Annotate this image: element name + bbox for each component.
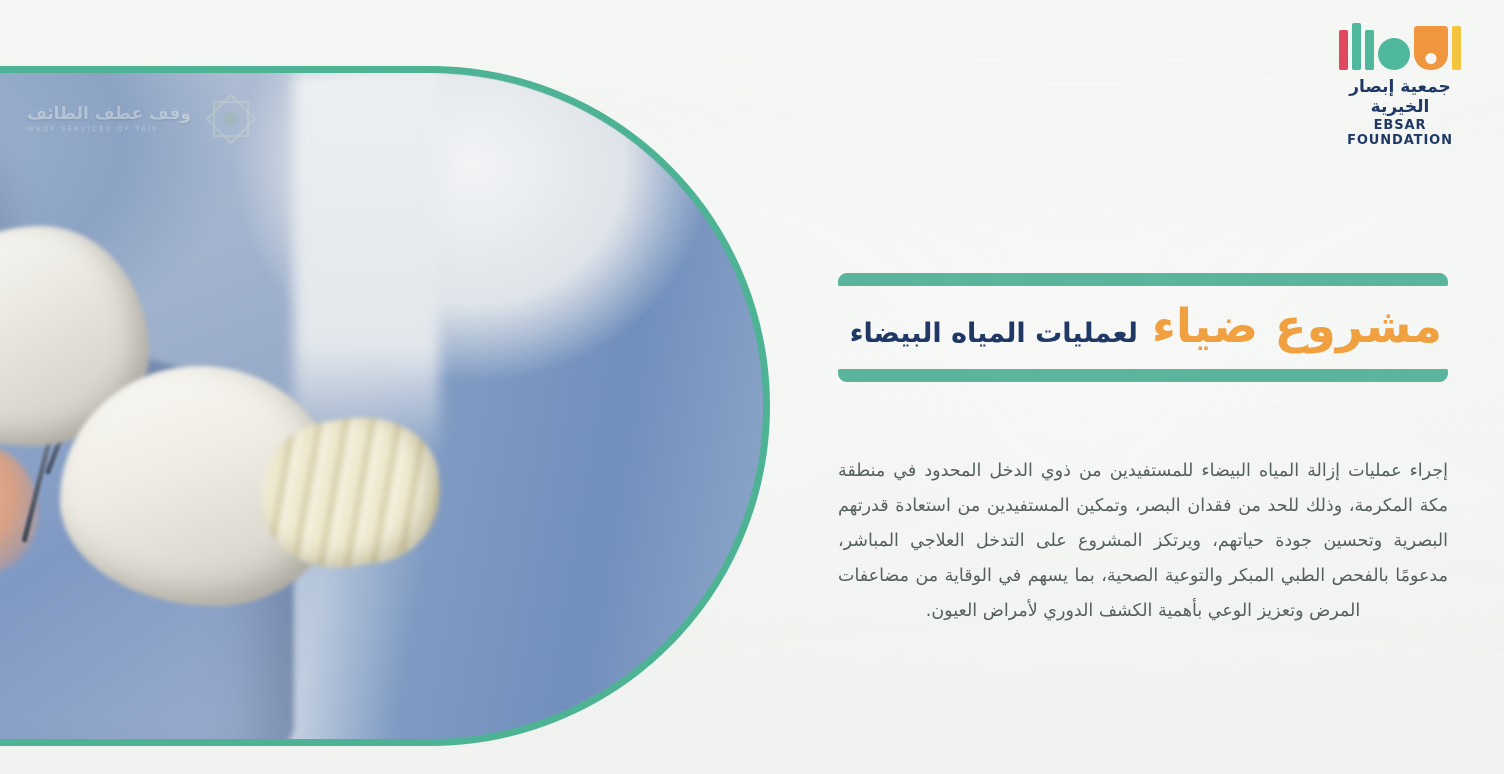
page-subtitle: لعمليات المياه البيضاء xyxy=(850,319,1138,349)
title-row: مشروع ضياء لعمليات المياه البيضاء xyxy=(838,286,1448,369)
title-block: مشروع ضياء لعمليات المياه البيضاء xyxy=(838,255,1448,398)
watermark-english: WAQF SERVICES OF TAIF xyxy=(27,125,191,133)
logo-english-name: EBSAR FOUNDATION xyxy=(1324,118,1476,148)
logo-circle-teal xyxy=(1378,38,1410,70)
photo-image xyxy=(0,73,763,739)
content-column: مشروع ضياء لعمليات المياه البيضاء إجراء … xyxy=(838,255,1448,647)
ebsar-logo-mark xyxy=(1324,20,1476,70)
surgery-photo-panel: وقف عطف الطائف WAQF SERVICES OF TAIF xyxy=(0,66,770,746)
description-paragraph: إجراء عمليات إزالة المياه البيضاء للمستف… xyxy=(838,454,1448,629)
page-title: مشروع ضياء xyxy=(1152,302,1442,351)
presentation-slide: وقف عطف الطائف WAQF SERVICES OF TAIF جمع… xyxy=(0,0,1504,774)
logo-bar-yellow xyxy=(1452,26,1461,70)
watermark-text: وقف عطف الطائف WAQF SERVICES OF TAIF xyxy=(27,105,191,133)
title-rule-top xyxy=(838,273,1448,286)
ornamental-star-icon xyxy=(205,93,257,145)
logo-bar-teal-2 xyxy=(1365,30,1374,70)
logo-arabic-name: جمعية إبصار الخيرية xyxy=(1324,77,1476,117)
logo-bar-teal-1 xyxy=(1352,23,1361,70)
watermark-arabic: وقف عطف الطائف xyxy=(27,105,191,125)
photo-soft-focus xyxy=(0,73,763,739)
title-rule-bottom xyxy=(838,369,1448,382)
logo-u-shape-orange xyxy=(1414,26,1448,70)
photo-watermark: وقف عطف الطائف WAQF SERVICES OF TAIF xyxy=(27,93,257,145)
logo-bar-red xyxy=(1339,30,1348,70)
ebsar-logo: جمعية إبصار الخيرية EBSAR FOUNDATION xyxy=(1324,20,1476,148)
